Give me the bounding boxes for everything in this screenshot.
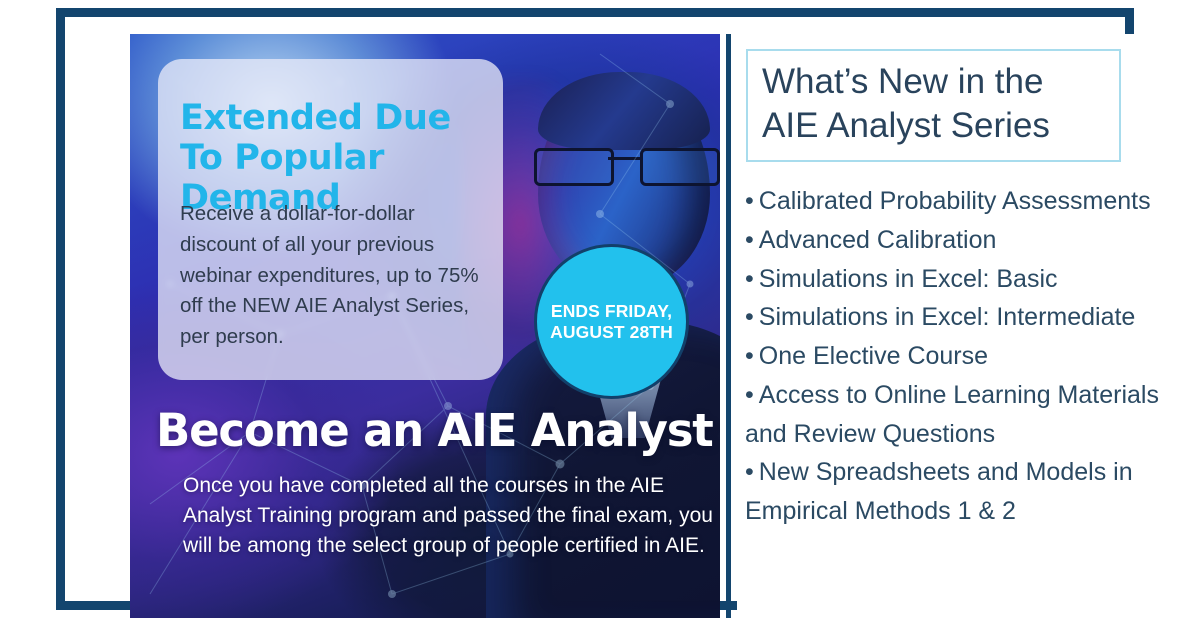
cta-body-text: Once you have completed all the courses … (183, 471, 713, 560)
promo-image-panel: Extended Due To Popular Demand Receive a… (130, 34, 720, 618)
whats-new-list-item-label: Access to Online Learning Materials and … (745, 381, 1159, 448)
whats-new-list-item: •One Elective Course (745, 337, 1185, 376)
whats-new-list-item-label: Advanced Calibration (759, 226, 997, 254)
offer-body-text: Receive a dollar-for-dollar discount of … (180, 199, 492, 353)
whats-new-list-item: •Calibrated Probability Assessments (745, 182, 1185, 221)
ad-outer-frame: Extended Due To Popular Demand Receive a… (56, 8, 1134, 610)
whats-new-list-item-label: Simulations in Excel: Intermediate (759, 303, 1136, 331)
whats-new-list-item-label: Simulations in Excel: Basic (759, 265, 1058, 293)
cta-title: Become an AIE Analyst (156, 404, 716, 457)
whats-new-panel: What’s New in the AIE Analyst Series •Ca… (737, 34, 1190, 618)
whats-new-list-item: •Access to Online Learning Materials and… (745, 376, 1185, 454)
bullet-icon: • (745, 381, 754, 409)
whats-new-heading: What’s New in the AIE Analyst Series (762, 60, 1105, 148)
whats-new-list-item: •Simulations in Excel: Intermediate (745, 298, 1185, 337)
deadline-badge-text: ENDS FRIDAY, AUGUST 28TH (550, 301, 673, 341)
whats-new-heading-box: What’s New in the AIE Analyst Series (746, 49, 1121, 162)
whats-new-list-item-label: Calibrated Probability Assessments (759, 187, 1151, 215)
whats-new-list-item: •Advanced Calibration (745, 221, 1185, 260)
whats-new-list-item: •Simulations in Excel: Basic (745, 260, 1185, 299)
bullet-icon: • (745, 226, 754, 254)
panel-divider (726, 34, 731, 618)
deadline-badge: ENDS FRIDAY, AUGUST 28TH (534, 244, 689, 399)
whats-new-list-item-label: One Elective Course (759, 342, 988, 370)
bullet-icon: • (745, 342, 754, 370)
bullet-icon: • (745, 187, 754, 215)
bullet-icon: • (745, 458, 754, 486)
whats-new-list: •Calibrated Probability Assessments•Adva… (745, 182, 1185, 531)
bullet-icon: • (745, 265, 754, 293)
bullet-icon: • (745, 303, 754, 331)
whats-new-list-item: •New Spreadsheets and Models in Empirica… (745, 453, 1185, 531)
offer-card: Extended Due To Popular Demand Receive a… (158, 59, 503, 380)
whats-new-list-item-label: New Spreadsheets and Models in Empirical… (745, 458, 1133, 525)
